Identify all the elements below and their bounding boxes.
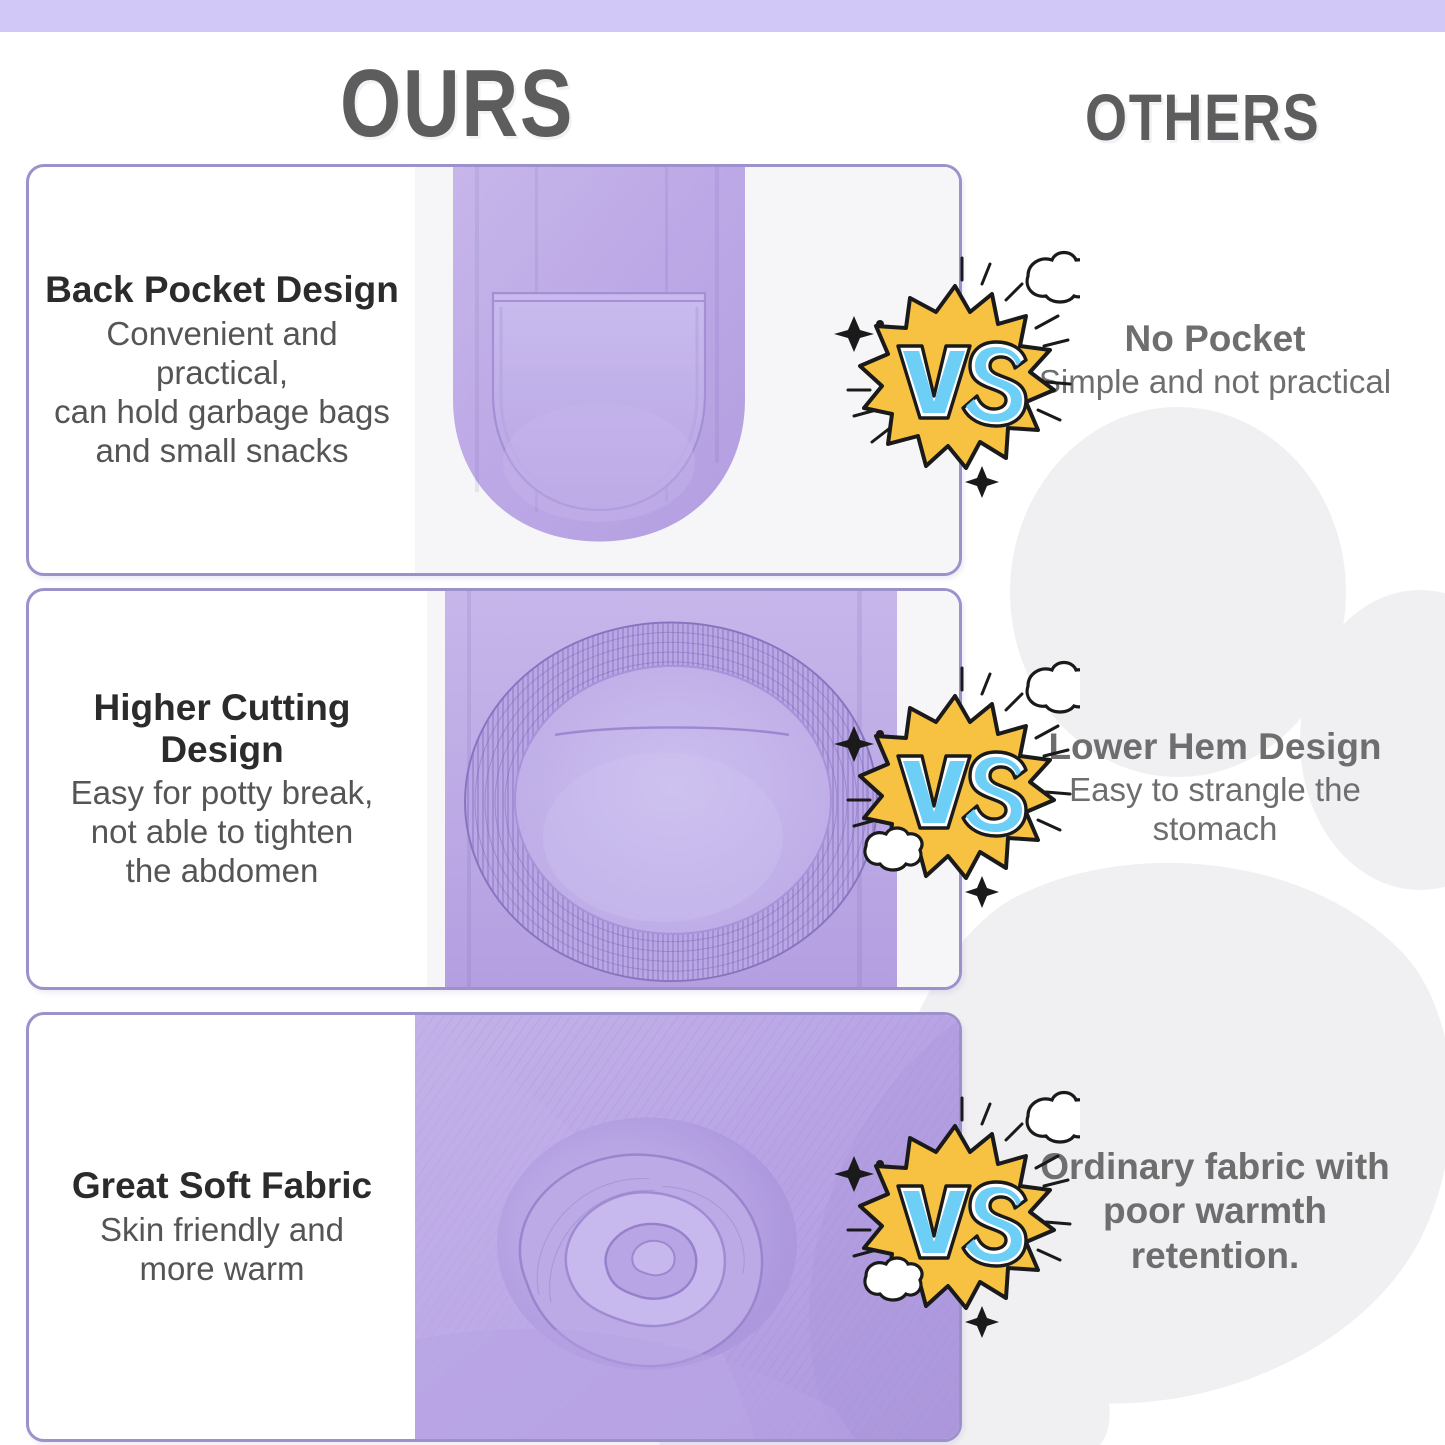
card2-text-block: Higher Cutting Design Easy for potty bre… [29, 591, 415, 987]
card2-title: Higher Cutting Design [88, 687, 357, 770]
card2-subtitle-line2: not able to tighten [71, 813, 374, 852]
card1-text-block: Back Pocket Design Convenient and practi… [29, 167, 415, 573]
feature-card-higher-cutting: Higher Cutting Design Easy for potty bre… [26, 588, 962, 990]
card3-title: Great Soft Fabric [66, 1165, 378, 1206]
feature-card-soft-fabric: Great Soft Fabric Skin friendly and more… [26, 1012, 962, 1442]
card2-title-line1: Higher Cutting [94, 687, 351, 728]
card3-subtitle-line1: Skin friendly and [100, 1211, 344, 1250]
others-header: OTHERS [1085, 84, 1320, 150]
vs-badge-row3 [830, 1090, 1080, 1340]
card3-subtitle: Skin friendly and more warm [90, 1211, 354, 1289]
card2-subtitle-line3: the abdomen [71, 852, 374, 891]
card1-subtitle: Convenient and practical, can hold garba… [29, 315, 415, 471]
column-headers: OURS OTHERS [0, 40, 1445, 158]
card1-subtitle-line1: Convenient and practical, [39, 315, 405, 393]
vs-badge-row2 [830, 660, 1080, 910]
card2-subtitle: Easy for potty break, not able to tighte… [61, 774, 384, 891]
puff-cloud-icon [1027, 253, 1080, 303]
vs-badge-row1 [830, 250, 1080, 500]
card2-title-line2: Design [94, 729, 351, 770]
ours-header: OURS [340, 56, 574, 152]
feature-card-back-pocket: Back Pocket Design Convenient and practi… [26, 164, 962, 576]
card1-title: Back Pocket Design [39, 269, 405, 310]
card1-subtitle-line3: and small snacks [39, 432, 405, 471]
card2-subtitle-line1: Easy for potty break, [71, 774, 374, 813]
card3-text-block: Great Soft Fabric Skin friendly and more… [29, 1015, 415, 1439]
card3-subtitle-line2: more warm [100, 1250, 344, 1289]
card1-subtitle-line2: can hold garbage bags [39, 393, 405, 432]
top-accent-bar [0, 0, 1445, 32]
